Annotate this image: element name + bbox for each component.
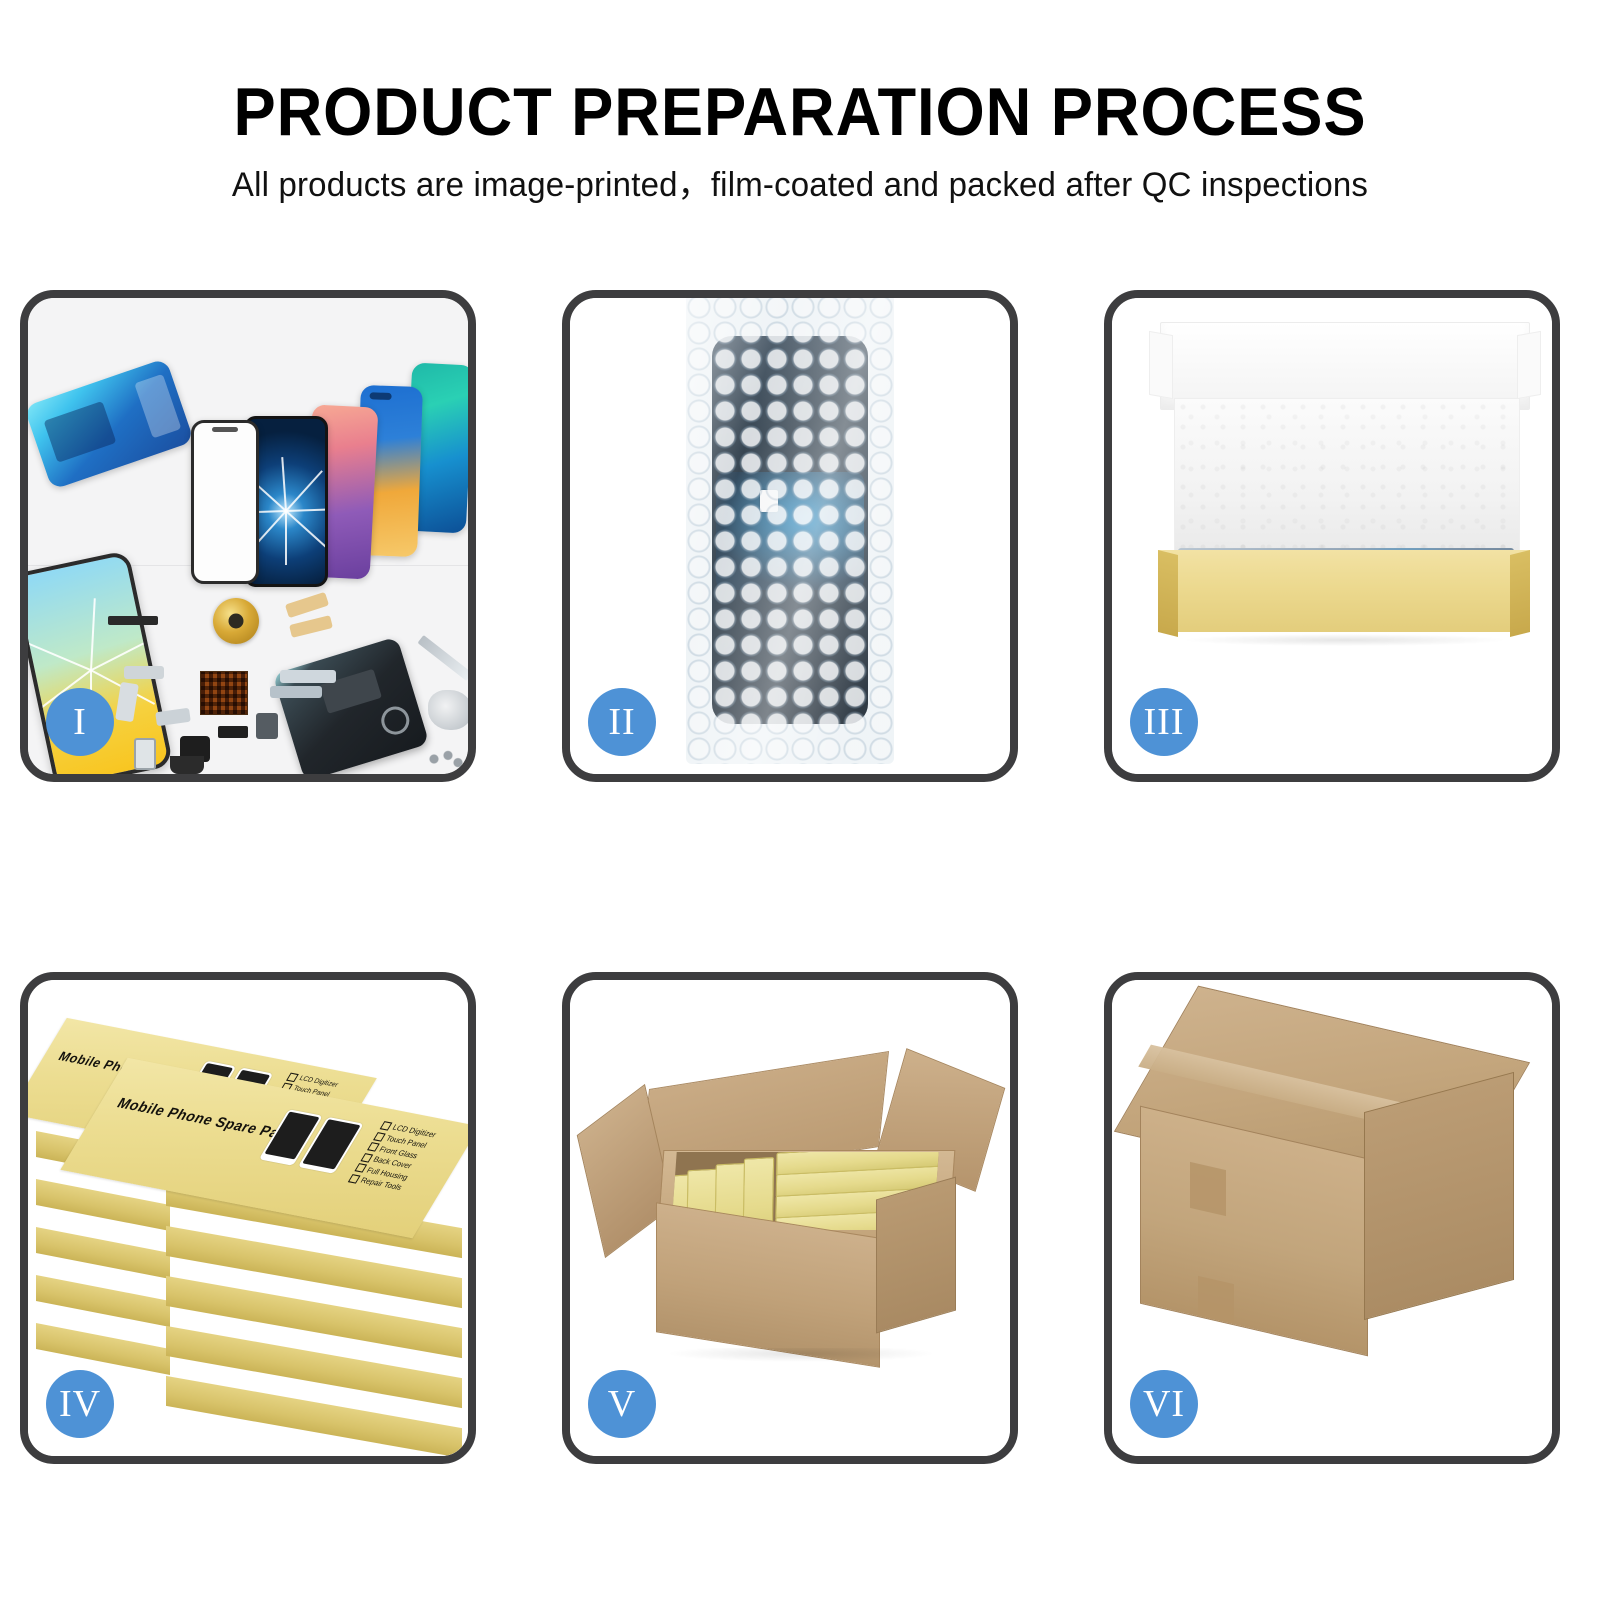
mailer-box-lid	[1160, 322, 1530, 410]
earpiece-mesh-part	[108, 616, 158, 625]
step-badge-3: III	[1130, 688, 1198, 756]
sim-tray-part	[134, 738, 156, 770]
step-panel-4[interactable]: Mobile Phone Spare Parts LCD Digitizer T…	[20, 972, 476, 1464]
vibrator-motor-part	[218, 726, 248, 738]
step-badge-6: VI	[1130, 1370, 1198, 1438]
step-panel-5[interactable]: V	[562, 972, 1018, 1464]
process-steps-grid: I II	[0, 0, 1600, 1600]
ic-chip-part	[200, 671, 248, 715]
front-glass-panel	[191, 420, 259, 584]
carton-shadow	[666, 1348, 936, 1362]
step-panel-2[interactable]: II	[562, 290, 1018, 782]
carton-right-wall	[876, 1177, 956, 1334]
carton-flap-tab-bottom	[1198, 1276, 1234, 1324]
wireless-charging-coil	[213, 598, 259, 644]
step-panel-6[interactable]: VI	[1104, 972, 1560, 1464]
step-panel-1[interactable]: I	[20, 290, 476, 782]
flex-cable-4	[270, 686, 322, 698]
carton-flap-tab-top	[1190, 1162, 1226, 1216]
step-panel-3[interactable]: III	[1104, 290, 1560, 782]
retail-box-front: Mobile Phone Spare Parts LCD Digitizer T…	[94, 1092, 446, 1204]
bubble-wrap-pouch	[686, 298, 894, 764]
speaker-module-part	[256, 713, 278, 739]
flex-cable-3	[280, 670, 336, 683]
sealed-carton-side	[1364, 1072, 1514, 1320]
mailer-box-shadow	[1186, 634, 1504, 646]
mailer-box-front-wall	[1158, 550, 1530, 632]
mailer-box-foam-lining	[1174, 398, 1520, 552]
step-badge-2: II	[588, 688, 656, 756]
loudspeaker-part	[170, 756, 204, 774]
plastic-sheen	[686, 298, 894, 764]
screws-set	[426, 750, 466, 768]
step-badge-5: V	[588, 1370, 656, 1438]
step-badge-4: IV	[46, 1370, 114, 1438]
cleaning-brush-tool	[428, 690, 468, 730]
flex-cable-5	[124, 666, 164, 679]
step-badge-1: I	[46, 688, 114, 756]
